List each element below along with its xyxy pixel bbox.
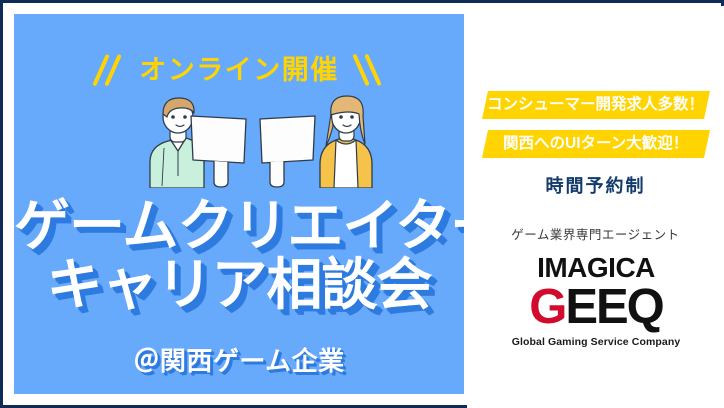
imagica-geeq-logo: IMAGICA GEEQ Global Gaming Service Compa… bbox=[501, 254, 691, 346]
double-slash-right-icon bbox=[351, 50, 385, 90]
person-right-illustration bbox=[320, 96, 372, 188]
logo-wordmark-mid: GEEQ bbox=[501, 283, 691, 332]
right-info-panel: コンシューマー開発求人多数！ 関西へのUIターン大歓迎！ 時間予約制 ゲーム業界… bbox=[467, 6, 724, 408]
monitor-right-illustration bbox=[260, 116, 315, 187]
logo-wordmark-top: IMAGICA bbox=[501, 254, 691, 282]
logo-letters-eeq: EEQ bbox=[565, 280, 662, 334]
highlight-tag-1-label: コンシューマー開発求人多数！ bbox=[487, 97, 704, 113]
logo-tagline: Global Gaming Service Company bbox=[501, 336, 691, 348]
headline-line-2: キャリア相談会 bbox=[14, 255, 464, 314]
highlight-tag-2: 関西へのUIターン大歓迎！ bbox=[482, 130, 710, 158]
logo-letter-g: G bbox=[529, 280, 565, 334]
kicker-label: オンライン開催 bbox=[139, 57, 339, 84]
agent-tagline: ゲーム業界専門エージェント bbox=[467, 224, 724, 243]
left-visual-panel: オンライン開催 bbox=[14, 14, 464, 394]
headline-line-1: ゲームクリエイター bbox=[14, 196, 464, 255]
online-meeting-illustration bbox=[134, 88, 379, 188]
promo-banner: オンライン開催 bbox=[0, 0, 724, 408]
headline-block: ゲームクリエイター キャリア相談会 bbox=[14, 196, 464, 315]
highlight-tag-1: コンシューマー開発求人多数！ bbox=[482, 91, 710, 119]
kicker-row: オンライン開催 bbox=[14, 50, 464, 90]
highlight-tag-2-label: 関西へのUIターン大歓迎！ bbox=[503, 136, 688, 152]
double-slash-left-icon bbox=[93, 50, 127, 90]
reservation-note: 時間予約制 bbox=[467, 172, 724, 198]
headline-subtitle: ＠関西ゲーム企業 bbox=[14, 341, 464, 378]
